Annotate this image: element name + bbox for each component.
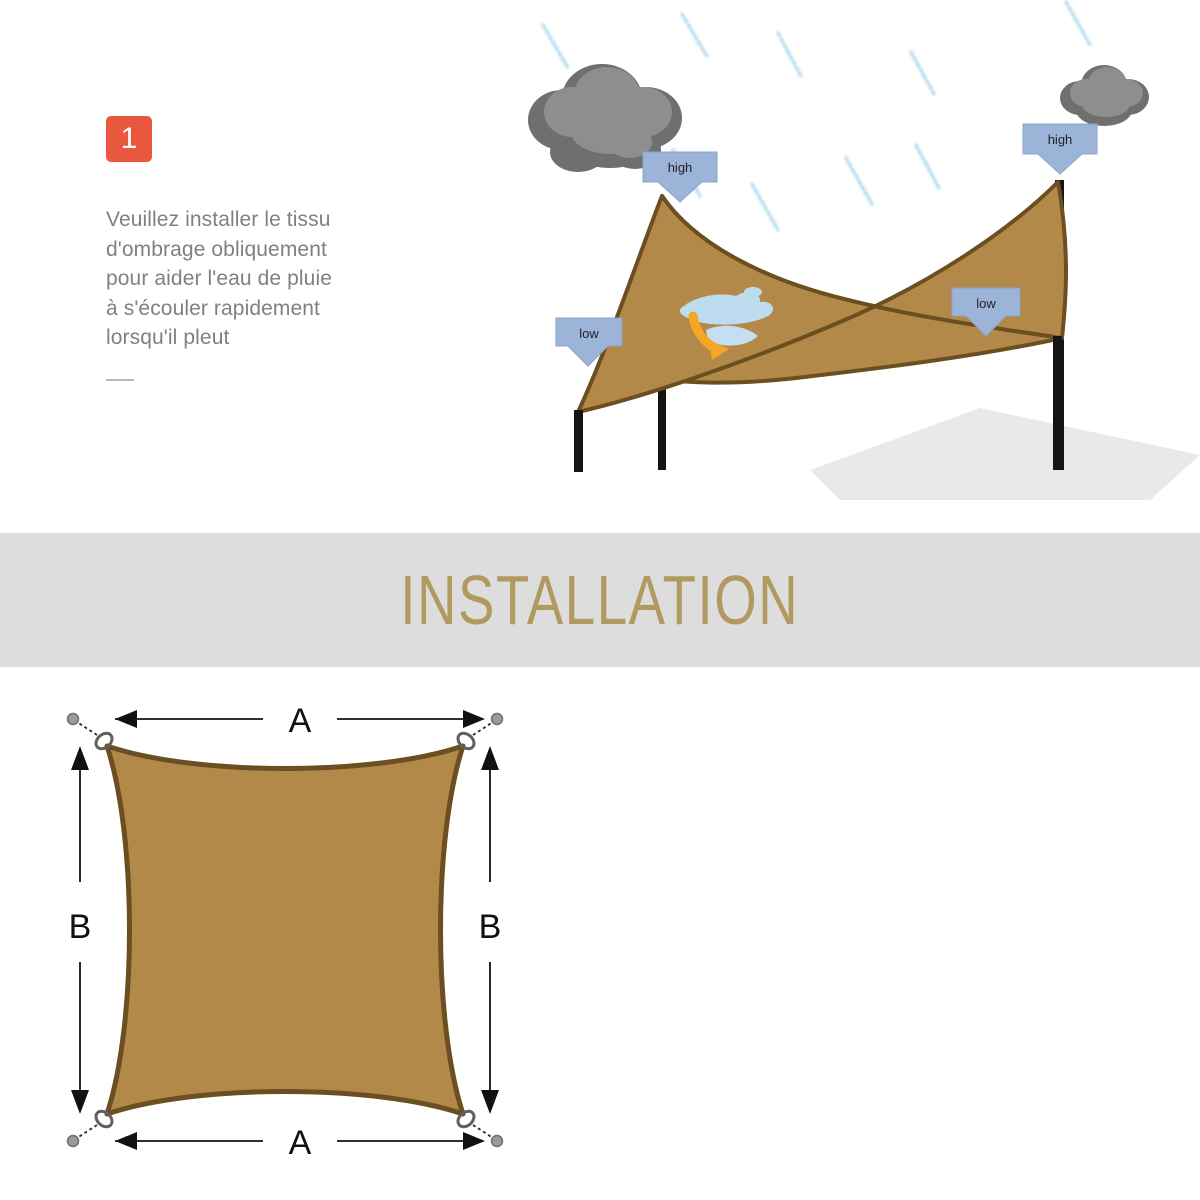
banner-title: INSTALLATION <box>401 560 800 640</box>
dimension-b-right-label: B <box>479 908 502 946</box>
raindrop <box>916 145 940 190</box>
raindrop <box>682 14 708 58</box>
dimension-b-left: B <box>69 746 92 1114</box>
support-pole <box>574 410 583 472</box>
anchor-tether <box>77 722 97 735</box>
step-1-number-badge: 1 <box>106 116 152 162</box>
corner-label-text: high <box>1048 132 1073 147</box>
section-banner: INSTALLATION <box>0 533 1200 667</box>
step-1-panel: 1 Veuillez installer le tissu d'ombrage … <box>0 0 1200 533</box>
dimension-a-top: A <box>115 702 485 740</box>
dimension-a-bottom: A <box>115 1124 485 1162</box>
dimension-a-top-label: A <box>289 702 312 740</box>
raindrop <box>543 25 568 68</box>
raindrop <box>846 158 872 204</box>
step-1-description: Veuillez installer le tissu d'ombrage ob… <box>106 205 386 381</box>
corner-label-text: low <box>976 296 996 311</box>
step-1-line: d'ombrage obliquement <box>106 235 386 265</box>
step-1-line: Veuillez installer le tissu <box>106 205 386 235</box>
step-1-line: à s'écouler rapidement <box>106 294 386 324</box>
anchor-tether <box>473 722 493 735</box>
dimension-b-left-label: B <box>69 908 92 946</box>
rain-runoff-illustration: high high low low <box>510 0 1200 520</box>
anchor-point-icon <box>68 714 79 725</box>
anchor-point-icon <box>492 714 503 725</box>
raindrop <box>778 33 802 78</box>
support-pole <box>1053 336 1062 470</box>
dimension-a-bottom-label: A <box>289 1124 312 1162</box>
dimension-b-right: B <box>479 746 502 1114</box>
square-sail-dimension-illustration: A A B <box>45 690 585 1170</box>
step-1-divider-rule <box>106 379 134 381</box>
anchor-point-icon <box>492 1136 503 1147</box>
installation-infographic-page: 1 Veuillez installer le tissu d'ombrage … <box>0 0 1200 1200</box>
raindrop <box>752 184 778 230</box>
cloud-icon <box>1060 65 1149 126</box>
anchor-tether <box>77 1125 97 1138</box>
raindrop <box>911 52 934 94</box>
step-1-line: lorsqu'il pleut <box>106 323 386 353</box>
anchor-point-icon <box>68 1136 79 1147</box>
corner-label-text: low <box>579 326 599 341</box>
step-1-line: pour aider l'eau de pluie <box>106 264 386 294</box>
square-sail-fabric <box>107 746 463 1114</box>
raindrop <box>1066 2 1090 45</box>
anchor-tether <box>473 1125 493 1138</box>
corner-label-high-right: high <box>1023 124 1097 174</box>
corner-label-text: high <box>668 160 693 175</box>
corner-label-high-left: high <box>643 152 717 202</box>
ground-shadow <box>810 408 1200 500</box>
